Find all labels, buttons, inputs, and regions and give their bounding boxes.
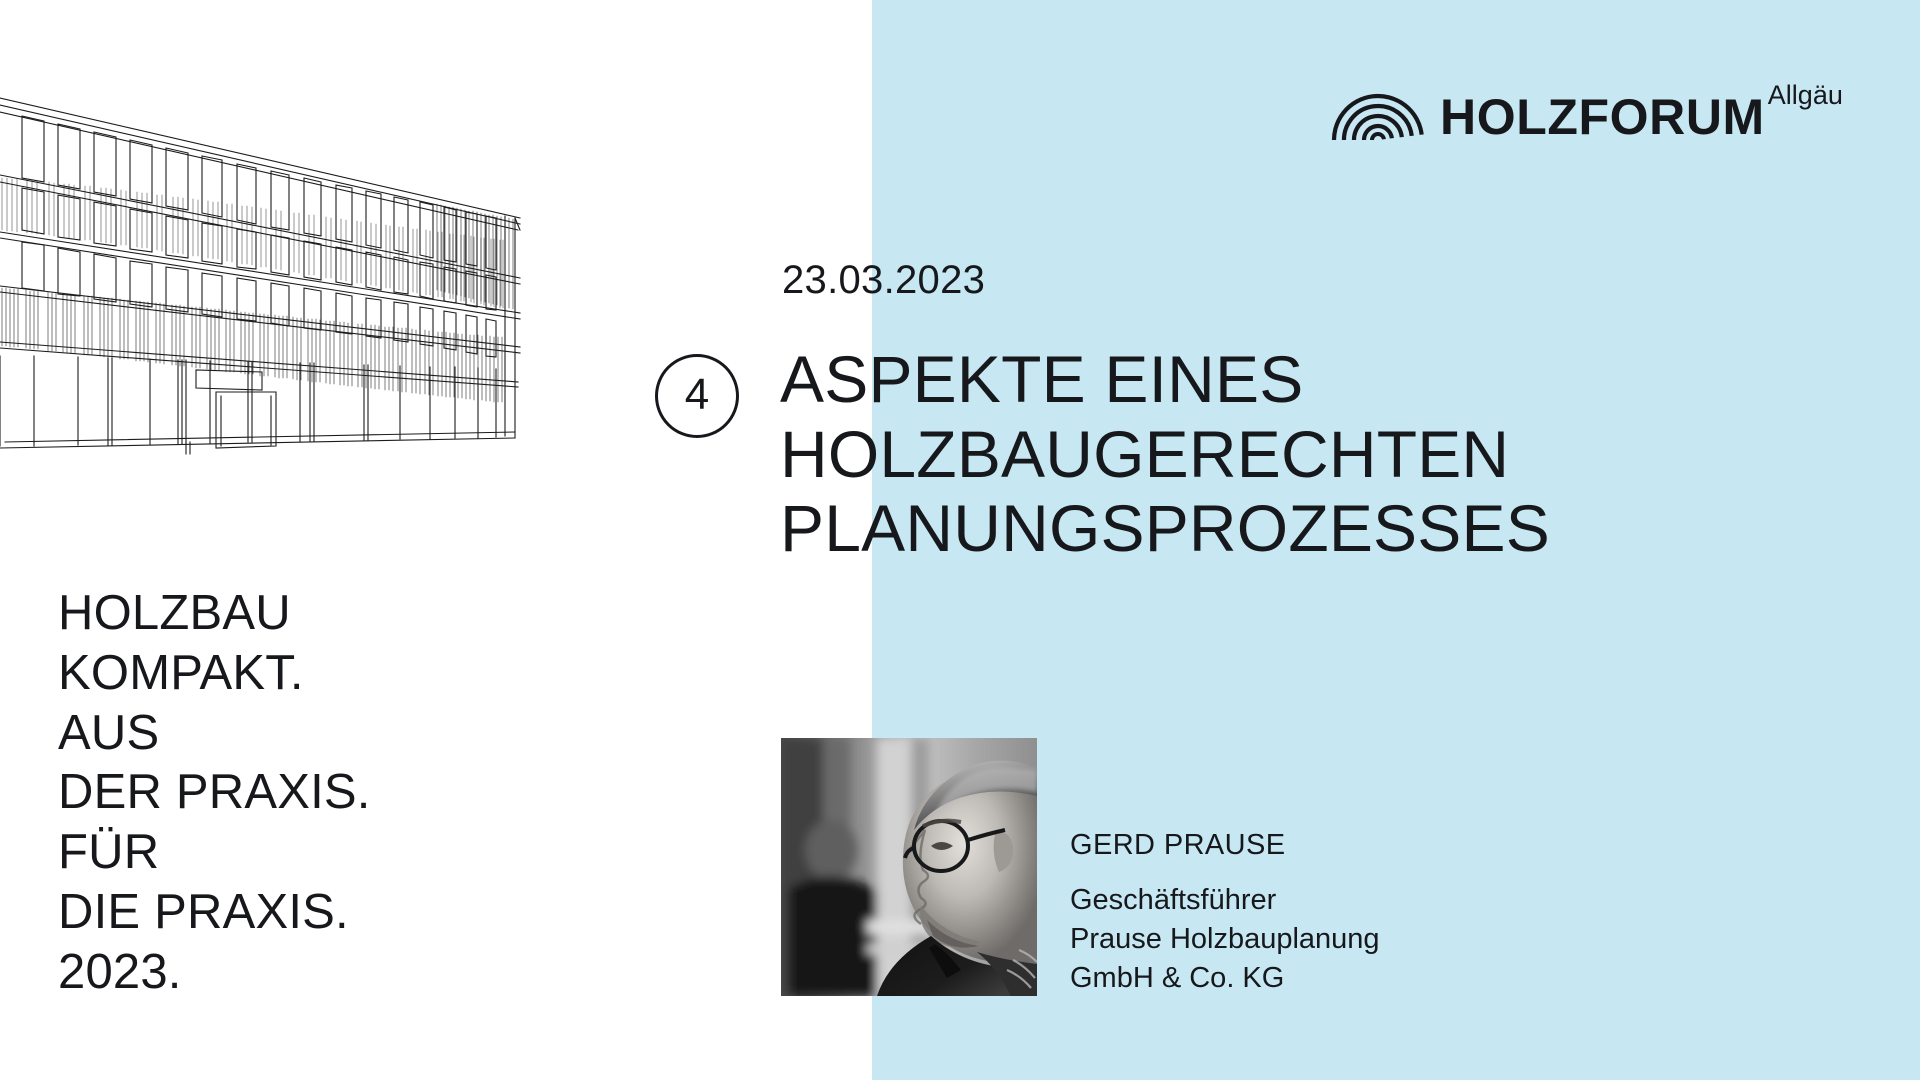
title-line-1: ASPEKTE EINES xyxy=(780,342,1890,417)
session-number: 4 xyxy=(685,373,709,417)
headline-line-7: 2023. xyxy=(58,943,371,1003)
session-number-badge: 4 xyxy=(655,354,739,438)
headline-line-5: FÜR xyxy=(58,823,371,883)
logo-wordmark: HOLZFORUM xyxy=(1440,94,1765,140)
event-series-headline: HOLZBAU KOMPAKT. AUS DER PRAXIS. FÜR DIE… xyxy=(58,584,371,1002)
headline-line-3: AUS xyxy=(58,704,371,764)
speaker-info: GERD PRAUSE Geschäftsführer Prause Holzb… xyxy=(1070,828,1380,997)
timber-building-facade-line-drawing xyxy=(0,70,545,470)
headline-line-2: KOMPAKT. xyxy=(58,644,371,704)
headline-line-1: HOLZBAU xyxy=(58,584,371,644)
speaker-role: Geschäftsführer xyxy=(1070,881,1380,920)
concentric-arcs-logo-icon xyxy=(1330,88,1426,140)
speaker-portrait-photo xyxy=(781,738,1037,996)
title-line-3: PLANUNGSPROZESSES xyxy=(780,491,1890,566)
headline-line-4: DER PRAXIS. xyxy=(58,763,371,823)
page-title: ASPEKTE EINES HOLZBAUGERECHTEN PLANUNGSP… xyxy=(780,342,1890,566)
speaker-company-line-1: Prause Holzbauplanung xyxy=(1070,920,1380,959)
title-line-2: HOLZBAUGERECHTEN xyxy=(780,417,1890,492)
speaker-name: GERD PRAUSE xyxy=(1070,828,1380,863)
event-date: 23.03.2023 xyxy=(782,258,985,303)
headline-line-6: DIE PRAXIS. xyxy=(58,883,371,943)
logo-region-label: Allgäu xyxy=(1768,78,1843,109)
holzforum-logo: HOLZFORUM Allgäu xyxy=(1330,78,1843,140)
speaker-company-line-2: GmbH & Co. KG xyxy=(1070,959,1380,998)
presentation-slide: HOLZFORUM Allgäu 23.03.2023 4 ASPEKTE EI… xyxy=(0,0,1920,1080)
